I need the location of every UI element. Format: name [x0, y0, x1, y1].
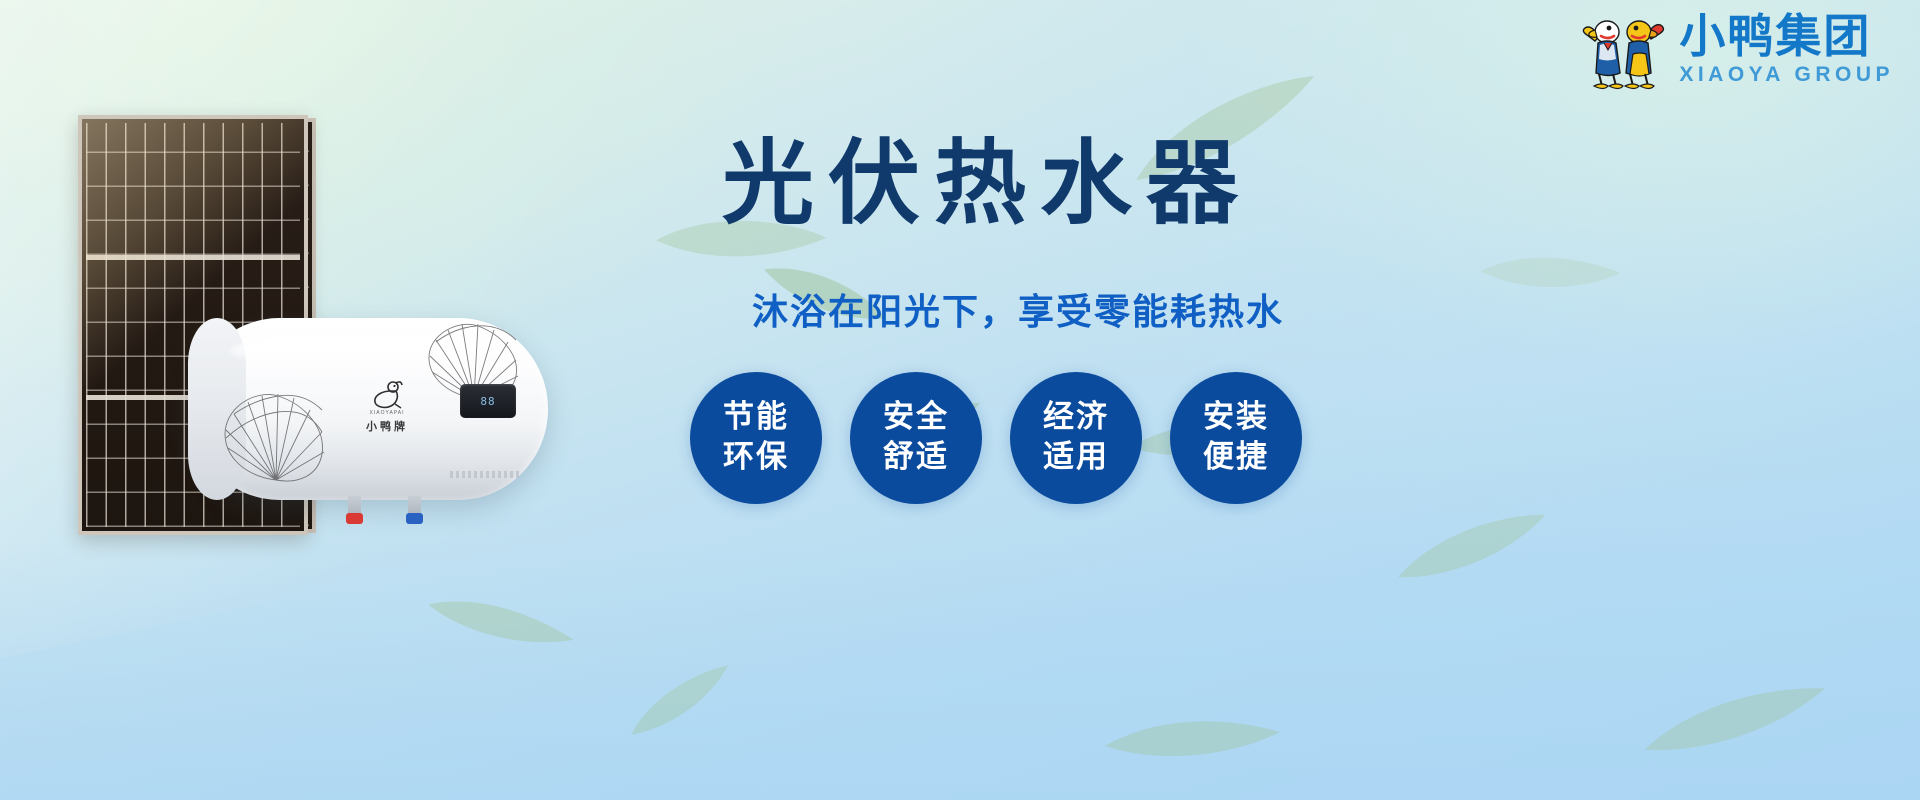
floral-pattern-decor-icon [212, 380, 340, 497]
leaf-decor-icon [1637, 680, 1832, 760]
badge-line-2: 便捷 [1203, 438, 1269, 478]
logo-english-name: XIAOYA GROUP [1679, 64, 1894, 85]
badge-line-1: 节能 [723, 398, 789, 438]
badge-line-1: 安装 [1203, 398, 1269, 438]
leaf-decor-icon [1476, 234, 1623, 314]
badge-line-2: 环保 [723, 438, 789, 478]
company-logo[interactable]: 小鸭集团 XIAOYA GROUP [1577, 6, 1894, 92]
badge-line-2: 适用 [1043, 438, 1109, 478]
feature-badge[interactable]: 安装 便捷 [1170, 372, 1302, 504]
two-duck-mascots-icon [1577, 6, 1669, 92]
heater-display-value: 88 [480, 395, 495, 408]
product-brand-mark: XIAOYAPAI 小鸭牌 [358, 380, 416, 434]
badge-line-1: 经济 [1043, 398, 1109, 438]
promotional-banner: 小鸭集团 XIAOYA GROUP [0, 0, 1920, 800]
brand-mark-chinese: 小鸭牌 [358, 418, 416, 434]
feature-badge[interactable]: 经济 适用 [1010, 372, 1142, 504]
page-subtitle: 沐浴在阳光下，享受零能耗热水 [752, 283, 1284, 335]
feature-badge[interactable]: 节能 环保 [690, 372, 822, 504]
leaf-decor-icon [1389, 507, 1556, 588]
feature-badge[interactable]: 安全 舒适 [850, 372, 982, 504]
background-bottom-gradient [0, 540, 1920, 800]
tank-label-strip [450, 471, 520, 478]
hot-water-pipe [348, 496, 361, 518]
feature-badge-list: 节能 环保 安全 舒适 经济 适用 安装 便捷 [690, 372, 1302, 504]
brand-mark-english: XIAOYAPAI [358, 410, 416, 416]
badge-line-1: 安全 [883, 398, 949, 438]
leaf-decor-icon [1102, 700, 1283, 780]
electric-water-heater-icon: XIAOYAPAI 小鸭牌 88 [190, 318, 548, 500]
heater-display-panel[interactable]: 88 [460, 384, 516, 418]
badge-line-2: 舒适 [883, 438, 949, 478]
leaf-decor-icon [422, 570, 578, 679]
cold-water-pipe [408, 496, 421, 518]
logo-chinese-name: 小鸭集团 [1679, 13, 1871, 59]
page-title: 光伏热水器 [722, 138, 1282, 230]
leaf-decor-icon [617, 659, 744, 743]
